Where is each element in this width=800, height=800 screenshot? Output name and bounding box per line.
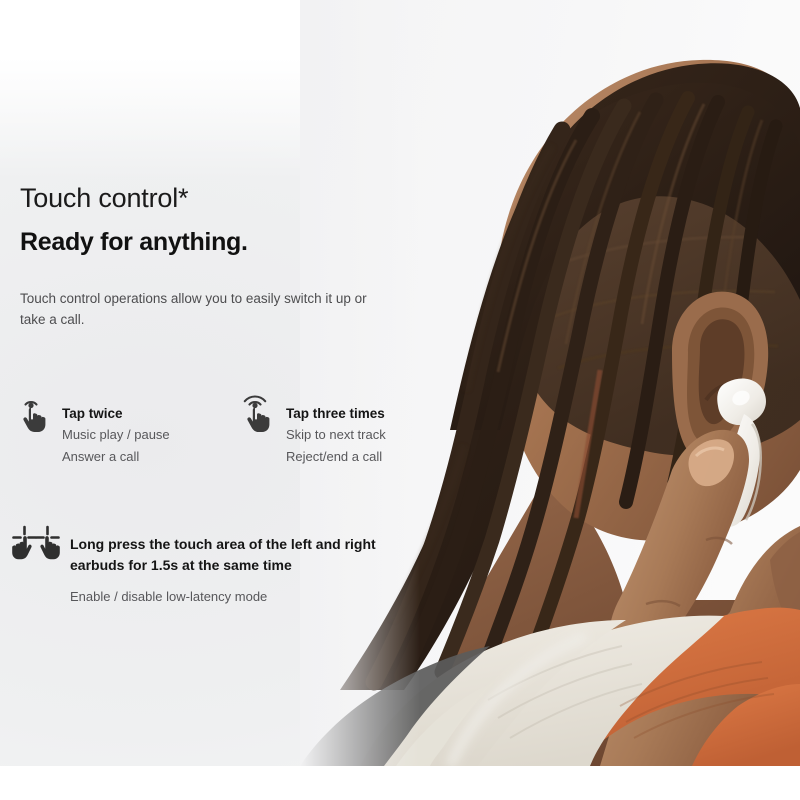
feature-line-1: Music play / pause: [62, 425, 170, 445]
feature-line-1: Enable / disable low-latency mode: [70, 587, 420, 607]
intro-paragraph: Touch control operations allow you to ea…: [20, 288, 394, 330]
feature-text: Tap three times Skip to next track Rejec…: [286, 392, 386, 467]
feature-title: Long press the touch area of the left an…: [70, 534, 420, 576]
feature-text: Long press the touch area of the left an…: [70, 524, 420, 607]
feature-line-1: Skip to next track: [286, 425, 386, 445]
feature-line-2: Reject/end a call: [286, 447, 386, 467]
bottom-white-band: [0, 766, 800, 800]
tap-three-times-hand-icon: [236, 392, 276, 436]
feature-line-2: Answer a call: [62, 447, 170, 467]
page-subtitle: Ready for anything.: [20, 228, 248, 257]
feature-title: Tap three times: [286, 405, 386, 423]
feature-title: Tap twice: [62, 405, 170, 423]
feature-tap-three-times: Tap three times Skip to next track Rejec…: [236, 392, 386, 467]
product-feature-page: Touch control* Ready for anything. Touch…: [0, 0, 800, 800]
feature-long-press: Long press the touch area of the left an…: [10, 524, 420, 607]
long-press-two-hands-icon: [10, 524, 62, 568]
page-title: Touch control*: [20, 183, 188, 214]
lifestyle-photo: [300, 0, 800, 766]
feature-tap-twice: Tap twice Music play / pause Answer a ca…: [12, 392, 170, 467]
feature-text: Tap twice Music play / pause Answer a ca…: [62, 392, 170, 467]
tap-twice-hand-icon: [12, 392, 52, 436]
